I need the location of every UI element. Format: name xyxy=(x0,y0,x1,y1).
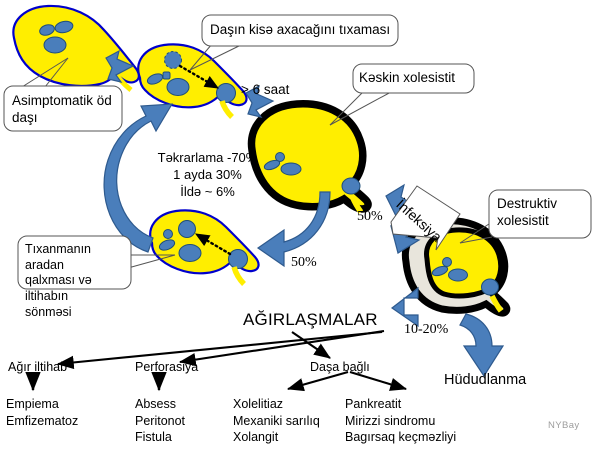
gallbladder-asymptomatic xyxy=(13,6,138,90)
callout-label-destructive-cholecystitis: Destruktiv xolesistit xyxy=(497,196,589,230)
callout-label-acute-cholecystitis: Kəskin xolesistit xyxy=(359,70,471,87)
label-pct-cycle-back: 50% xyxy=(291,255,317,272)
stone-2-impacted xyxy=(217,84,236,103)
blue-arrow-to-hududlanma xyxy=(460,314,503,376)
branch-items-stone-related-right: Pankreatit Mirizzi sindromu Bagırsaq keç… xyxy=(345,396,456,446)
cholecystitis-pathogenesis-diagram: Asimptomatik öd daşı Daşın kisə axacağın… xyxy=(0,0,600,450)
blue-arrow-destructive-to-complications xyxy=(392,288,418,326)
gallbladder-resolution xyxy=(150,210,258,284)
stone-1c xyxy=(44,37,66,53)
stone-4-neck xyxy=(229,250,248,269)
branch-head-stone-related: Daşa bağlı xyxy=(310,360,370,375)
callout-label-duct-obstruction: Daşın kisə axacağını tıxaması xyxy=(210,22,398,39)
label-hududlanma: Hüdudlanma xyxy=(444,372,526,389)
branch-items-stone-related-left: Xolelitiaz Mexaniki sarılıq Xolangit xyxy=(233,396,320,446)
stone-5c xyxy=(449,269,468,281)
stone-5-impacted xyxy=(482,279,499,295)
label-six-hours: > 6 saat xyxy=(241,82,289,98)
stone-3-impacted xyxy=(342,178,360,194)
arrow-to-perforation xyxy=(180,331,384,362)
watermark-label: NYBay xyxy=(548,420,580,431)
branch-items-perforation: Absess Peritonot Fistula xyxy=(135,396,185,446)
stone-4d xyxy=(179,245,201,262)
complications-heading: AĞIRLAŞMALAR xyxy=(243,310,378,330)
label-pct-infection: 50% xyxy=(357,209,383,226)
stone-5a xyxy=(443,258,452,267)
stone-4b xyxy=(164,230,173,239)
stone-3c xyxy=(281,163,301,175)
stone-4a xyxy=(179,221,196,238)
branch-head-severe-inflammation: Ağır iltihab xyxy=(8,360,67,375)
stone-2c xyxy=(167,79,189,96)
label-pct-localization: 10-20% xyxy=(404,322,448,339)
callout-label-asymptomatic: Asimptomatik öd daşı xyxy=(12,93,124,127)
branch-items-severe-inflammation: Empiema Emfizematoz xyxy=(6,396,78,429)
gallbladder-body-1 xyxy=(13,6,138,86)
branch-head-perforation: Perforasiya xyxy=(135,360,198,375)
stone-2b xyxy=(163,72,170,79)
label-recurrence-stats: Təkrarlama -70% 1 ayda 30% İldə ~ 6% xyxy=(140,150,275,201)
callout-label-resolution: Tıxanmanın aradan qalxması və iltihabın … xyxy=(25,242,127,320)
